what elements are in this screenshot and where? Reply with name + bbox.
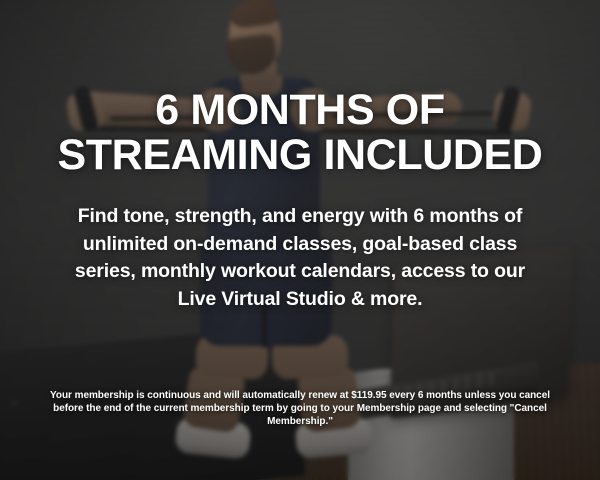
text-overlay: 6 MONTHS OF STREAMING INCLUDED Find tone… bbox=[0, 0, 600, 480]
subcopy-paragraph: Find tone, strength, and energy with 6 m… bbox=[63, 203, 537, 313]
headline: 6 MONTHS OF STREAMING INCLUDED bbox=[0, 88, 600, 178]
headline-line-2: STREAMING INCLUDED bbox=[8, 133, 592, 178]
promo-banner: VOLVE bbox=[0, 0, 600, 480]
fineprint-disclaimer: Your membership is continuous and will a… bbox=[50, 389, 550, 428]
headline-line-1: 6 MONTHS OF bbox=[8, 88, 592, 133]
